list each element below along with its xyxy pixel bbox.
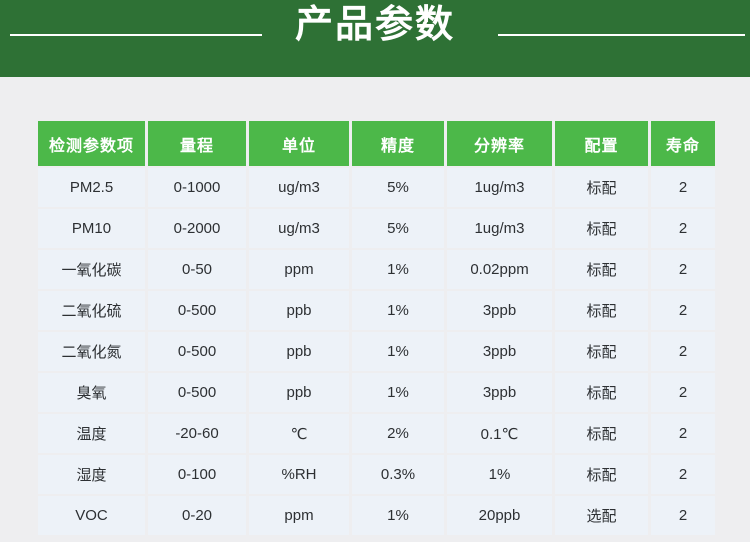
cell-单位: %RH xyxy=(249,455,349,494)
cell-配置: 标配 xyxy=(555,373,648,412)
column-header-1: 检测参数项 xyxy=(38,121,145,166)
cell-精度: 1% xyxy=(352,496,444,535)
cell-寿命: 2 xyxy=(651,414,715,453)
cell-单位: ℃ xyxy=(249,414,349,453)
cell-分辨率: 1ug/m3 xyxy=(447,168,552,207)
cell-量程: 0-500 xyxy=(148,291,246,330)
cell-parameter-name: PM2.5 xyxy=(38,168,145,207)
banner-rule-left-icon xyxy=(10,34,262,36)
cell-分辨率: 0.1℃ xyxy=(447,414,552,453)
cell-单位: ug/m3 xyxy=(249,209,349,248)
cell-量程: 0-100 xyxy=(148,455,246,494)
table-row: 湿度0-100%RH0.3%1%标配2 xyxy=(38,455,715,494)
table-row: 温度-20-60℃2%0.1℃标配2 xyxy=(38,414,715,453)
cell-parameter-name: 臭氧 xyxy=(38,373,145,412)
cell-寿命: 2 xyxy=(651,496,715,535)
cell-寿命: 2 xyxy=(651,291,715,330)
cell-分辨率: 3ppb xyxy=(447,373,552,412)
cell-配置: 标配 xyxy=(555,209,648,248)
cell-parameter-name: 二氧化硫 xyxy=(38,291,145,330)
cell-分辨率: 0.02ppm xyxy=(447,250,552,289)
cell-寿命: 2 xyxy=(651,455,715,494)
cell-精度: 1% xyxy=(352,250,444,289)
column-header-4: 精度 xyxy=(352,121,444,166)
cell-寿命: 2 xyxy=(651,168,715,207)
cell-精度: 0.3% xyxy=(352,455,444,494)
cell-精度: 5% xyxy=(352,209,444,248)
page-title: 产品参数 xyxy=(295,6,455,44)
cell-分辨率: 3ppb xyxy=(447,332,552,371)
column-header-5: 分辨率 xyxy=(447,121,552,166)
cell-寿命: 2 xyxy=(651,373,715,412)
cell-配置: 标配 xyxy=(555,414,648,453)
cell-精度: 2% xyxy=(352,414,444,453)
cell-单位: ppb xyxy=(249,291,349,330)
cell-分辨率: 3ppb xyxy=(447,291,552,330)
cell-配置: 标配 xyxy=(555,291,648,330)
cell-寿命: 2 xyxy=(651,250,715,289)
cell-parameter-name: 温度 xyxy=(38,414,145,453)
cell-parameter-name: 一氧化碳 xyxy=(38,250,145,289)
cell-寿命: 2 xyxy=(651,209,715,248)
cell-量程: 0-50 xyxy=(148,250,246,289)
table-row: PM2.50-1000ug/m35%1ug/m3标配2 xyxy=(38,168,715,207)
table-row: 二氧化硫0-500ppb1%3ppb标配2 xyxy=(38,291,715,330)
cell-配置: 标配 xyxy=(555,332,648,371)
cell-配置: 标配 xyxy=(555,250,648,289)
column-header-3: 单位 xyxy=(249,121,349,166)
cell-量程: 0-2000 xyxy=(148,209,246,248)
spec-table: 检测参数项量程单位精度分辨率配置寿命 PM2.50-1000ug/m35%1ug… xyxy=(35,119,718,537)
cell-分辨率: 1ug/m3 xyxy=(447,209,552,248)
cell-量程: -20-60 xyxy=(148,414,246,453)
cell-精度: 1% xyxy=(352,373,444,412)
spec-table-container: 检测参数项量程单位精度分辨率配置寿命 PM2.50-1000ug/m35%1ug… xyxy=(0,77,750,537)
cell-parameter-name: 二氧化氮 xyxy=(38,332,145,371)
cell-配置: 选配 xyxy=(555,496,648,535)
cell-精度: 1% xyxy=(352,291,444,330)
cell-精度: 1% xyxy=(352,332,444,371)
column-header-2: 量程 xyxy=(148,121,246,166)
page-banner: 产品参数 xyxy=(0,0,750,77)
cell-分辨率: 1% xyxy=(447,455,552,494)
cell-寿命: 2 xyxy=(651,332,715,371)
cell-parameter-name: VOC xyxy=(38,496,145,535)
cell-量程: 0-500 xyxy=(148,332,246,371)
table-row: 一氧化碳0-50ppm1%0.02ppm标配2 xyxy=(38,250,715,289)
cell-配置: 标配 xyxy=(555,168,648,207)
cell-量程: 0-20 xyxy=(148,496,246,535)
cell-量程: 0-500 xyxy=(148,373,246,412)
cell-parameter-name: PM10 xyxy=(38,209,145,248)
cell-精度: 5% xyxy=(352,168,444,207)
table-row: 二氧化氮0-500ppb1%3ppb标配2 xyxy=(38,332,715,371)
spec-table-header: 检测参数项量程单位精度分辨率配置寿命 xyxy=(38,121,715,166)
cell-单位: ppb xyxy=(249,332,349,371)
cell-单位: ppm xyxy=(249,250,349,289)
table-row: PM100-2000ug/m35%1ug/m3标配2 xyxy=(38,209,715,248)
cell-单位: ppb xyxy=(249,373,349,412)
column-header-6: 配置 xyxy=(555,121,648,166)
cell-量程: 0-1000 xyxy=(148,168,246,207)
cell-单位: ppm xyxy=(249,496,349,535)
table-row: 臭氧0-500ppb1%3ppb标配2 xyxy=(38,373,715,412)
column-header-7: 寿命 xyxy=(651,121,715,166)
cell-单位: ug/m3 xyxy=(249,168,349,207)
table-row: VOC0-20ppm1%20ppb选配2 xyxy=(38,496,715,535)
table-header-row: 检测参数项量程单位精度分辨率配置寿命 xyxy=(38,121,715,166)
spec-table-body: PM2.50-1000ug/m35%1ug/m3标配2PM100-2000ug/… xyxy=(38,168,715,535)
cell-配置: 标配 xyxy=(555,455,648,494)
banner-rule-right-icon xyxy=(498,34,745,36)
cell-parameter-name: 湿度 xyxy=(38,455,145,494)
cell-分辨率: 20ppb xyxy=(447,496,552,535)
